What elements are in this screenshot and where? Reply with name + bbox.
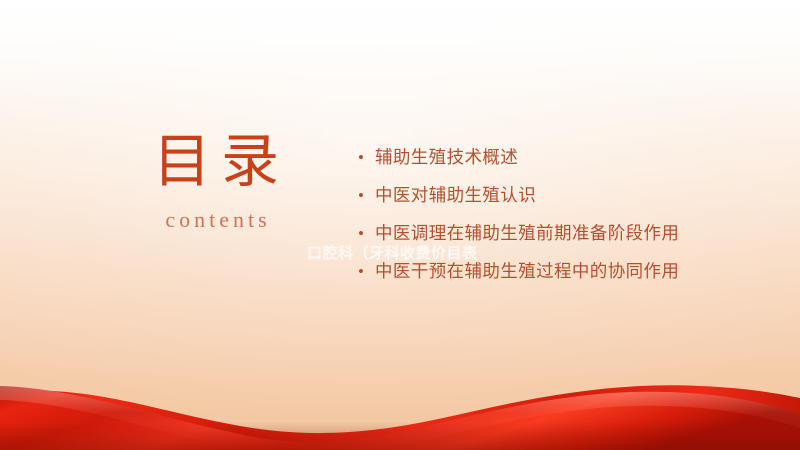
table-of-contents-list: 辅助生殖技术概述 中医对辅助生殖认识 中医调理在辅助生殖前期准备阶段作用 中医干… xyxy=(358,140,726,292)
title-block: 目录 contents xyxy=(96,132,336,233)
presentation-slide: 目录 contents 辅助生殖技术概述 中医对辅助生殖认识 中医调理在辅助生殖… xyxy=(0,0,800,450)
page-subtitle: contents xyxy=(96,207,336,233)
toc-item-3[interactable]: 中医调理在辅助生殖前期准备阶段作用 xyxy=(358,216,726,251)
red-wave-ribbon xyxy=(0,370,800,450)
page-title: 目录 xyxy=(96,132,336,193)
toc-item-2[interactable]: 中医对辅助生殖认识 xyxy=(358,178,726,213)
toc-item-4[interactable]: 中医干预在辅助生殖过程中的协同作用 xyxy=(358,254,726,289)
toc-item-1[interactable]: 辅助生殖技术概述 xyxy=(358,140,726,175)
